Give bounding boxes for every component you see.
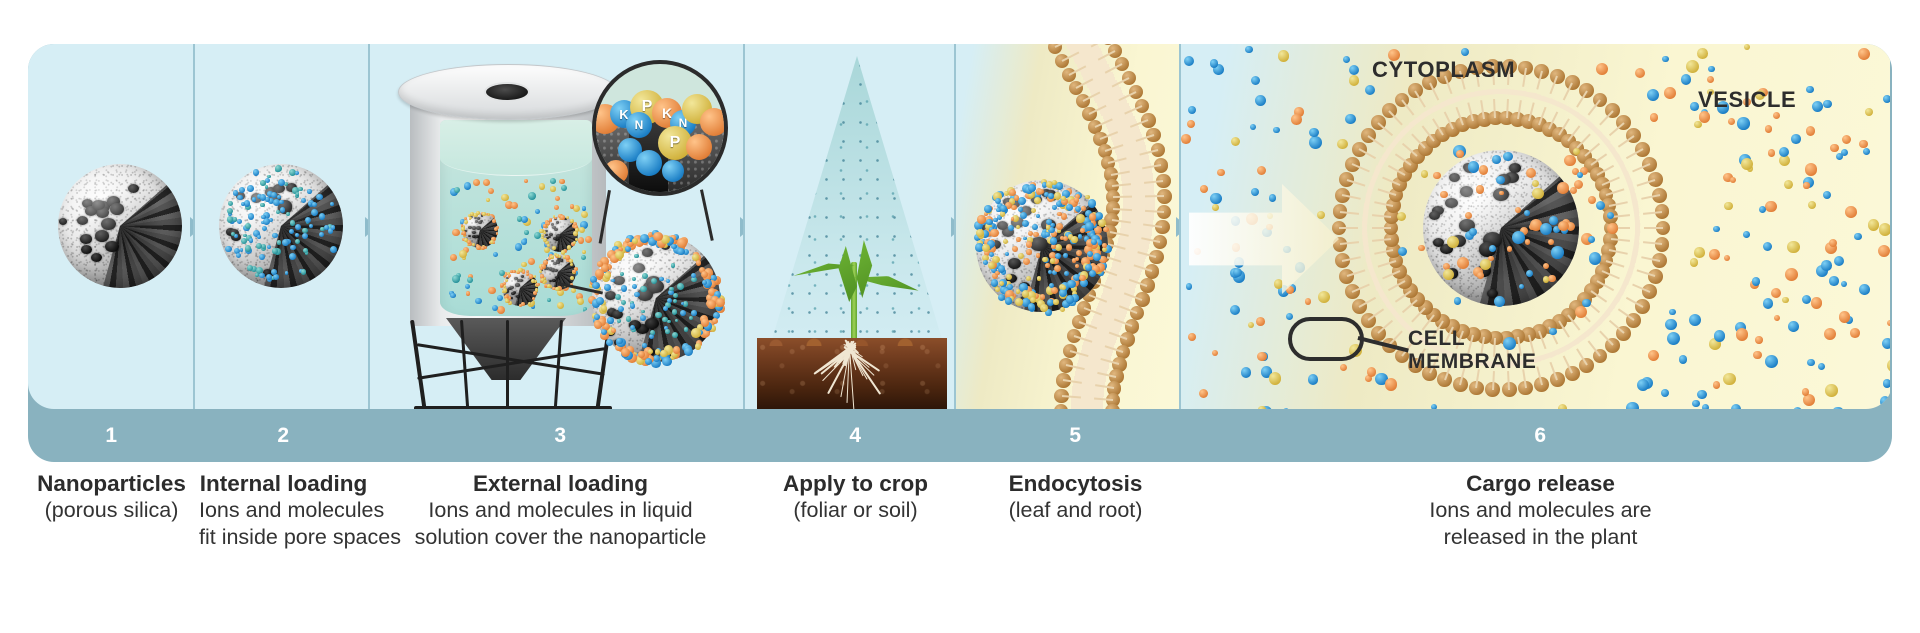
released-ion <box>1859 284 1870 295</box>
caption-2-sub-0: Ions and molecules <box>199 497 368 523</box>
solution-ion <box>465 284 470 289</box>
released-ion <box>1879 223 1890 235</box>
released-ion <box>1457 257 1469 269</box>
phospholipid-head <box>1130 306 1144 320</box>
ion-particle <box>1000 205 1007 212</box>
released-ion <box>1829 276 1838 285</box>
ion-particle <box>1046 225 1051 230</box>
released-ion <box>1318 291 1330 303</box>
released-ion <box>1564 155 1576 167</box>
released-ion <box>1477 272 1484 279</box>
released-ion <box>1759 206 1766 213</box>
released-ion <box>1433 172 1440 179</box>
solution-ion <box>515 243 522 250</box>
solution-ion <box>528 258 535 265</box>
released-ion <box>1669 309 1675 315</box>
ion-particle <box>271 192 277 198</box>
solution-ion <box>583 307 587 311</box>
ion-particle <box>617 319 621 323</box>
ion-particle <box>630 303 635 308</box>
released-ion <box>1397 212 1406 221</box>
released-ion <box>1479 165 1489 175</box>
ion-particle <box>1067 280 1075 288</box>
magnifier-inset: KPNKNP <box>592 60 728 196</box>
ion-particle <box>998 265 1006 273</box>
released-ion <box>1607 212 1614 219</box>
solution-ion <box>524 179 528 183</box>
ion-particle <box>531 279 535 283</box>
ion-particle <box>556 254 559 257</box>
caption-3-title: External loading <box>376 470 745 497</box>
ion-particle <box>549 218 552 221</box>
ion-particle <box>691 328 701 338</box>
ion-particle <box>655 312 662 319</box>
ion-particle <box>621 285 627 291</box>
released-ion <box>1418 245 1424 251</box>
released-ion <box>1763 242 1773 252</box>
solution-ion <box>578 237 584 243</box>
ion-particle <box>642 273 648 279</box>
ion-particle <box>991 279 999 287</box>
released-ion <box>1551 246 1563 258</box>
ion-particle <box>1042 257 1047 262</box>
released-ion <box>1269 194 1276 201</box>
nanoparticle-pore <box>478 221 482 224</box>
solution-ion <box>467 277 473 283</box>
released-ion <box>1456 150 1464 158</box>
solution-ion <box>581 211 588 218</box>
solution-ion <box>521 239 527 245</box>
ion-particle <box>493 241 496 244</box>
phospholipid-head <box>1145 264 1159 278</box>
ion-particle <box>330 246 337 253</box>
solution-ion <box>450 254 457 261</box>
solution-ion <box>497 295 504 302</box>
ion-particle <box>1030 297 1036 303</box>
nanoparticle-pore <box>105 241 119 252</box>
nanoparticle-pore <box>77 216 88 225</box>
ion-particle <box>464 220 468 224</box>
nanoparticle-pore <box>511 292 515 295</box>
released-ion <box>1447 236 1459 248</box>
ion-particle <box>1048 193 1053 198</box>
ion-particle <box>1040 294 1045 299</box>
step-number-band: 1 2 3 4 5 6 <box>28 409 1892 462</box>
released-ion <box>1421 170 1429 178</box>
nanoparticle-pore <box>645 318 659 329</box>
panel-3-external-loading[interactable]: KPNKNP <box>370 44 745 409</box>
ion-particle <box>1026 249 1031 254</box>
ion-particle <box>1006 274 1012 280</box>
ion-particle <box>1085 222 1094 231</box>
ion-particle <box>247 265 253 271</box>
ion-particle <box>330 202 334 206</box>
released-ion <box>1699 111 1710 122</box>
nanoparticle-pore <box>633 263 645 273</box>
ion-particle <box>1075 206 1081 212</box>
released-ion <box>1582 299 1591 308</box>
ion-particle <box>1087 251 1093 257</box>
ion-particle <box>1102 243 1107 248</box>
ion-particle <box>541 278 544 281</box>
cell-membrane-label-line1: CELL <box>1408 327 1465 351</box>
released-ion <box>1575 306 1587 318</box>
solution-ion <box>579 227 585 233</box>
released-ion <box>1199 389 1208 398</box>
caption-4-title: Apply to crop <box>753 470 958 497</box>
caption-1: Nanoparticles (porous silica) <box>28 470 195 620</box>
released-ion <box>1231 137 1240 146</box>
ion-particle <box>249 238 254 243</box>
ion-particle <box>526 270 529 273</box>
nanoparticle-pore <box>997 221 1008 230</box>
released-ion <box>1212 204 1219 211</box>
ion-particle <box>260 203 265 208</box>
solution-ion <box>486 198 491 203</box>
solution-ion <box>464 182 472 190</box>
released-ion <box>1274 279 1284 289</box>
released-ion <box>1257 166 1266 175</box>
ion-particle <box>989 252 994 257</box>
panel-2-internal-loading[interactable] <box>195 44 370 409</box>
released-ion <box>1818 363 1825 370</box>
ion-particle <box>662 357 672 367</box>
released-ion <box>1845 206 1857 218</box>
nanoparticle-pore <box>110 203 124 215</box>
ion-particle <box>239 187 245 193</box>
nanoparticle-graphic <box>58 164 182 288</box>
released-ion <box>1596 63 1608 75</box>
ion-particle <box>248 213 255 220</box>
ion-particle <box>712 318 718 324</box>
ion-particle <box>653 232 662 241</box>
released-ion <box>1186 283 1193 290</box>
ion-particle <box>551 255 555 259</box>
nanoparticle-pore <box>475 235 479 238</box>
released-ion <box>1305 298 1312 305</box>
solution-ion <box>466 291 470 295</box>
caption-5-title: Endocytosis <box>966 470 1185 497</box>
released-ion <box>1784 180 1793 189</box>
ion-particle <box>1088 199 1097 208</box>
ion-particle <box>1056 223 1063 230</box>
released-ion <box>1558 221 1568 231</box>
ion-particle <box>632 238 638 244</box>
ion-particle <box>662 160 684 182</box>
panel-5-endocytosis[interactable] <box>956 44 1181 409</box>
ion-particle <box>992 256 999 263</box>
ion-particle <box>529 274 533 278</box>
solution-ion <box>557 302 564 309</box>
released-ion <box>1887 359 1890 372</box>
nanoparticle-pore <box>514 277 517 280</box>
ion-particle <box>1000 211 1005 216</box>
solution-ion <box>554 205 559 210</box>
released-ion <box>1667 332 1680 345</box>
nanoparticle-pores <box>58 164 182 288</box>
released-ion <box>1532 180 1539 187</box>
released-ion <box>1181 134 1191 144</box>
caption-6-sub-1: released in the plant <box>1193 524 1888 550</box>
nanoparticle-pore <box>519 279 523 282</box>
solution-ion <box>561 185 567 191</box>
ion-particle <box>567 245 572 250</box>
ion-particle <box>560 215 564 219</box>
released-ion <box>1765 201 1777 213</box>
released-ion <box>1291 114 1302 125</box>
released-ion <box>1773 112 1780 119</box>
ion-particle <box>977 215 985 223</box>
ion-particle <box>1032 224 1038 230</box>
solution-ion <box>454 187 460 193</box>
ion-particle <box>295 239 300 244</box>
nanoparticle-pore <box>552 279 555 282</box>
caption-4: Apply to crop (foliar or soil) <box>749 470 962 620</box>
released-ion <box>1596 201 1605 210</box>
ion-particle <box>638 351 644 357</box>
ion-particle <box>1011 205 1017 211</box>
nanoparticle-pore <box>553 262 557 265</box>
released-ion <box>1765 125 1773 133</box>
released-ion <box>1637 379 1649 391</box>
released-ion <box>1883 379 1890 388</box>
nanoparticle-pore <box>551 223 554 225</box>
nanoparticle-in-solution <box>542 216 578 252</box>
ion-particle <box>271 269 277 275</box>
ion-particle <box>667 320 671 324</box>
tank-leg <box>417 347 605 380</box>
released-ion <box>1512 231 1525 244</box>
ion-particle <box>1057 212 1061 216</box>
released-ion <box>1823 100 1831 108</box>
released-ion <box>1723 373 1735 385</box>
released-ion <box>1557 182 1569 194</box>
solution-ion <box>582 250 586 254</box>
released-ion <box>1863 148 1870 155</box>
released-ion <box>1782 297 1789 304</box>
nanoparticle-pore <box>521 275 524 278</box>
ion-particle <box>570 263 573 266</box>
released-ion <box>1694 247 1704 257</box>
nanoparticle-loaded-graphic <box>219 164 343 288</box>
released-ion <box>1337 139 1347 149</box>
ion-particle <box>700 108 728 136</box>
ion-particle <box>536 283 540 287</box>
solution-ion <box>493 252 498 257</box>
ion-particle <box>505 299 509 303</box>
tank-leg <box>410 320 427 409</box>
ion-particle <box>280 207 286 213</box>
released-ion <box>1744 44 1750 50</box>
ion-particle <box>307 189 312 194</box>
released-ion <box>1648 350 1660 362</box>
solution-ion <box>550 178 556 184</box>
ion-particle <box>311 209 318 216</box>
ion-particle <box>604 160 628 184</box>
released-ion <box>1241 367 1252 378</box>
solution-ion <box>483 179 490 186</box>
released-ion <box>1836 153 1843 160</box>
ion-particle <box>1036 253 1041 258</box>
ion-particle <box>1054 265 1061 272</box>
released-ion <box>1200 185 1208 193</box>
ion-particle <box>260 194 267 201</box>
ion-particle <box>255 273 259 277</box>
ion-particle <box>1063 236 1068 241</box>
released-ion <box>1664 87 1676 99</box>
nanoparticle-pore <box>515 283 519 287</box>
solution-ion <box>585 236 592 243</box>
panel-4-apply-to-crop[interactable] <box>745 44 956 409</box>
released-ion <box>1713 381 1720 388</box>
released-ion <box>1461 48 1469 56</box>
released-ion <box>1210 193 1221 204</box>
nanoparticle-pore <box>476 226 481 230</box>
ion-particle <box>295 224 301 230</box>
ion-particle <box>505 279 508 282</box>
caption-3-sub-0: Ions and molecules in liquid <box>376 497 745 523</box>
ion-particle <box>626 316 631 321</box>
released-ion <box>1803 182 1809 188</box>
step-number-5: 5 <box>962 409 1189 462</box>
cell-membrane-label-line2: MEMBRANE <box>1408 350 1536 374</box>
released-ion <box>1570 187 1577 194</box>
released-ion <box>1755 336 1762 343</box>
nanoparticle-pore <box>548 236 551 239</box>
released-ion <box>1736 328 1748 340</box>
ion-particle <box>611 279 615 283</box>
released-ion <box>1543 276 1550 283</box>
solution-ion <box>459 250 467 258</box>
ion-particle <box>1066 244 1073 251</box>
ion-particle <box>1005 297 1013 305</box>
ion-particle <box>616 338 623 345</box>
ion-particle <box>691 310 696 315</box>
ion-particle <box>464 238 468 242</box>
solution-ion <box>550 186 555 191</box>
released-ion <box>1309 136 1322 149</box>
ion-particle <box>573 241 576 244</box>
ion-particle <box>290 220 295 225</box>
ion-particle <box>984 205 992 213</box>
ion-particle <box>1102 247 1107 252</box>
nanoparticle-pore <box>613 276 624 285</box>
released-ion <box>1317 211 1325 219</box>
released-ion <box>1708 66 1715 73</box>
step-number-6: 6 <box>1189 409 1892 462</box>
ion-particle <box>640 315 646 321</box>
ion-particle <box>225 246 232 253</box>
ion-particle <box>272 233 277 238</box>
ion-particle <box>1048 270 1052 274</box>
solution-ion <box>488 188 495 195</box>
ion-particle <box>1091 239 1097 245</box>
ion-particle <box>684 347 693 356</box>
released-ion <box>1737 117 1749 129</box>
solution-ion <box>528 192 536 200</box>
ion-particle <box>553 215 556 218</box>
released-ion <box>1345 114 1355 124</box>
released-ion <box>1850 328 1860 338</box>
ion-particle <box>565 255 569 259</box>
tank-hatch-icon <box>484 82 530 102</box>
ion-particle <box>642 343 647 348</box>
released-ion <box>1454 297 1462 305</box>
ion-particle <box>665 329 669 333</box>
ion-particle <box>618 306 624 312</box>
vesicle-label: VESICLE <box>1698 88 1796 113</box>
panel-1-nanoparticles[interactable] <box>28 44 195 409</box>
released-ion <box>1468 161 1480 173</box>
ion-particle <box>677 248 685 256</box>
ion-particle <box>518 268 522 272</box>
released-ion <box>1728 118 1735 125</box>
ion-particle <box>1016 289 1021 294</box>
released-ion <box>1248 322 1254 328</box>
released-ion <box>1692 400 1700 408</box>
released-ion <box>1821 260 1832 271</box>
released-ion <box>1255 95 1266 106</box>
ion-particle <box>604 284 611 291</box>
released-ion <box>1269 372 1281 384</box>
ion-particle <box>462 231 466 235</box>
released-ion <box>1839 311 1850 322</box>
released-ion <box>1647 89 1659 101</box>
released-ion <box>1251 76 1260 85</box>
ion-particle <box>634 292 639 297</box>
released-ion <box>1823 191 1831 199</box>
caption-3-sub-1: solution cover the nanoparticle <box>376 524 745 550</box>
released-ion <box>1635 68 1645 78</box>
released-ion <box>1868 219 1879 230</box>
released-ion <box>1730 177 1736 183</box>
released-ion <box>1825 384 1838 397</box>
released-ion <box>1743 231 1750 238</box>
caption-3: External loading Ions and molecules in l… <box>372 470 749 620</box>
ion-particle <box>1063 253 1068 258</box>
ion-particle <box>701 271 708 278</box>
nanoparticle-pore <box>81 245 92 254</box>
released-ion <box>1858 48 1870 60</box>
ion-particle <box>552 246 556 250</box>
released-ion <box>1774 315 1780 321</box>
released-ion <box>1251 188 1259 196</box>
solution-ion <box>452 229 460 237</box>
ion-particle <box>1051 244 1055 248</box>
ion-particle <box>275 165 282 172</box>
step-number-3: 3 <box>372 409 749 462</box>
ion-particle <box>575 228 579 232</box>
ion-particle <box>1022 220 1029 227</box>
solution-ion <box>511 202 518 209</box>
nanoparticle-in-solution <box>462 212 498 248</box>
caption-2-sub-1: fit inside pore spaces <box>199 524 368 550</box>
ion-particle <box>995 287 1000 292</box>
released-ion <box>1787 241 1799 253</box>
ion-particle <box>247 185 254 192</box>
released-ion <box>1532 188 1544 200</box>
caption-5-sub-0: (leaf and root) <box>966 497 1185 523</box>
nanoparticle-pore <box>554 269 559 273</box>
ion-particle <box>1007 284 1013 290</box>
released-ion <box>1589 252 1602 265</box>
nanoparticle-at-membrane-graphic <box>976 180 1108 312</box>
released-ion <box>1398 247 1407 256</box>
ion-particle <box>1037 276 1042 281</box>
ion-particle <box>494 227 498 231</box>
ion-particle <box>651 278 657 284</box>
released-ion <box>1188 333 1196 341</box>
